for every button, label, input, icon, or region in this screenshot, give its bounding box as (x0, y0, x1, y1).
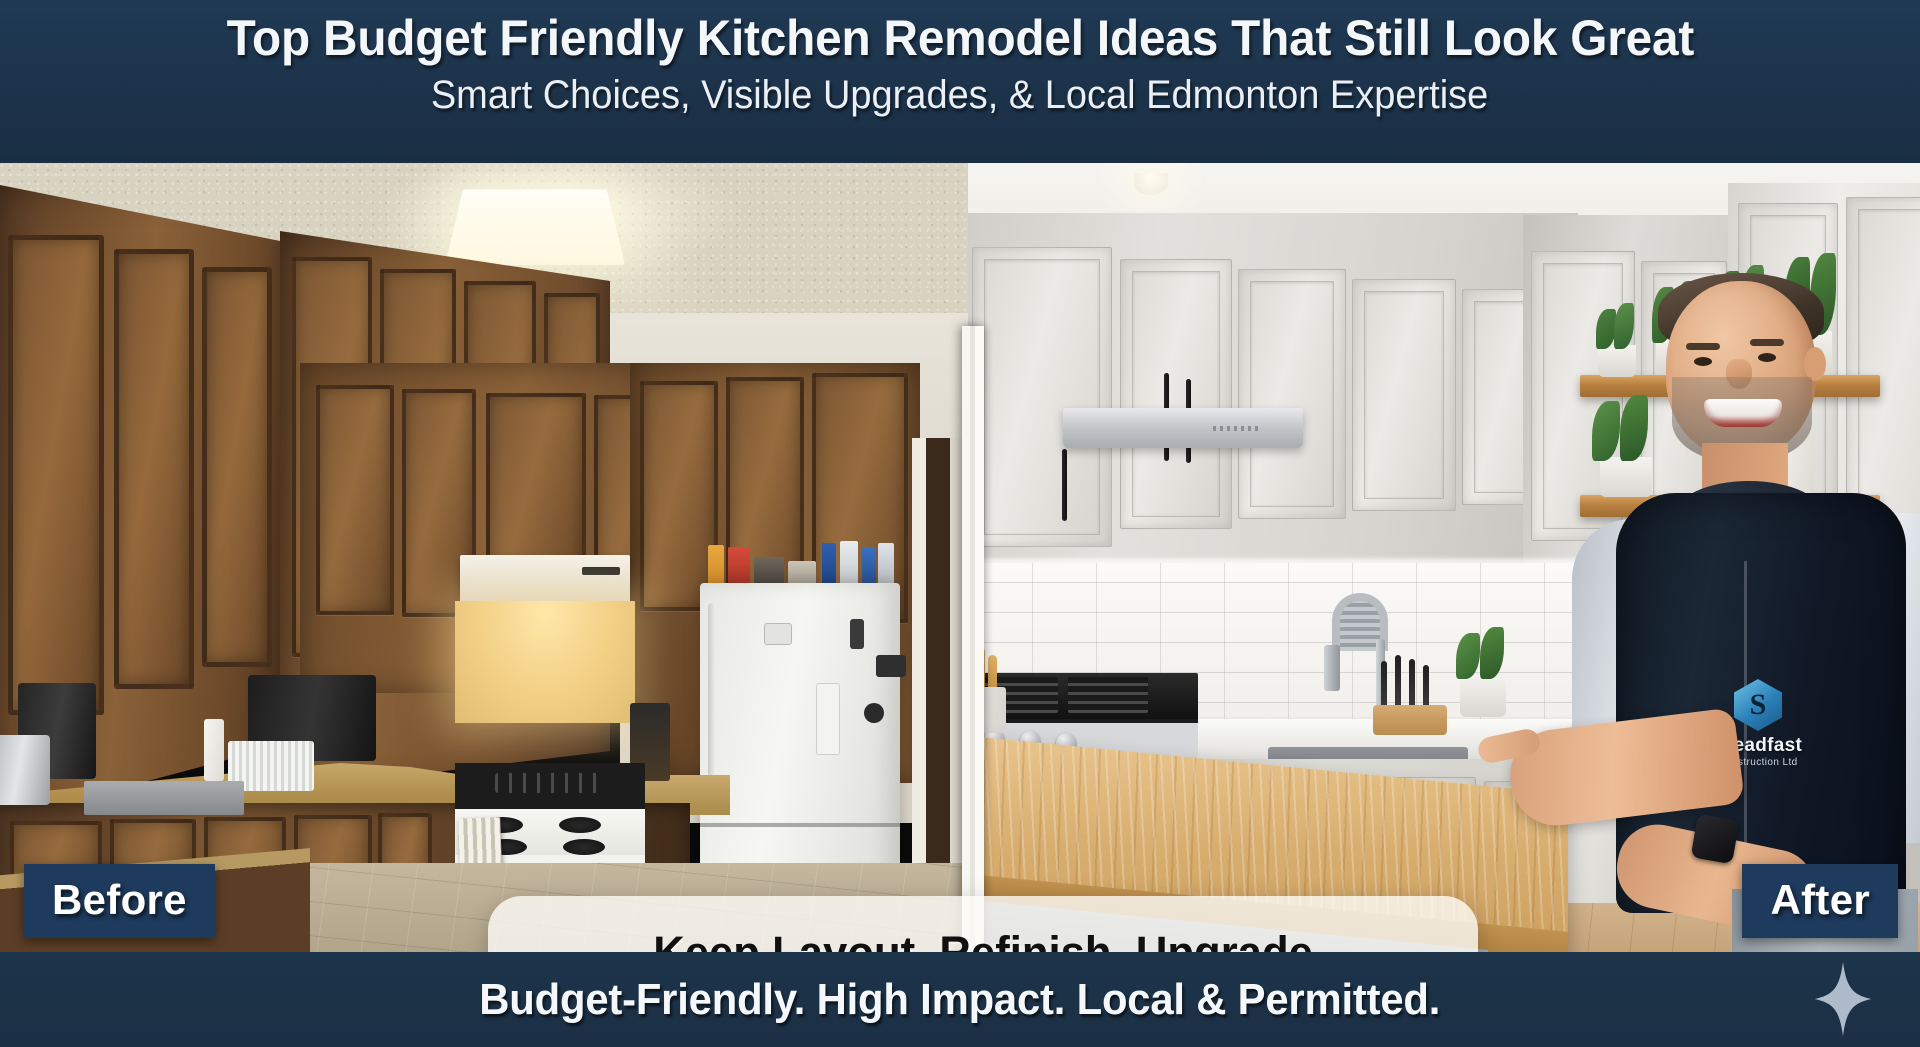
person-eye-left (1694, 357, 1712, 366)
before-kitchen-scene (0, 163, 968, 952)
footer-banner: Budget-Friendly. High Impact. Local & Pe… (0, 952, 1920, 1047)
promo-poster: Top Budget Friendly Kitchen Remodel Idea… (0, 0, 1920, 1047)
page-subtitle: Smart Choices, Visible Upgrades, & Local… (431, 73, 1488, 118)
before-paper-towel (204, 719, 224, 781)
before-toaster (0, 735, 50, 805)
hexagon-s-icon (1734, 679, 1782, 731)
after-burner-grate-right (1068, 677, 1148, 713)
person-smile (1704, 399, 1782, 427)
after-range-hood (1063, 408, 1303, 448)
badge-before: Before (24, 864, 215, 938)
after-kitchen-scene: Steadfast Construction Ltd (968, 163, 1920, 952)
person-ear (1804, 347, 1826, 381)
after-knife-block (1373, 655, 1447, 735)
before-sink (84, 781, 244, 815)
key-message-overlay: Keep Layout. Refinish. Upgrade Hardware … (488, 896, 1478, 952)
person-smartwatch (1690, 814, 1739, 865)
header-banner: Top Budget Friendly Kitchen Remodel Idea… (0, 0, 1920, 163)
before-ceiling-light (445, 190, 625, 265)
badge-after: After (1742, 864, 1898, 938)
page-title: Top Budget Friendly Kitchen Remodel Idea… (226, 11, 1694, 65)
after-photo: Steadfast Construction Ltd (968, 163, 1920, 952)
before-backsplash-glow (455, 601, 635, 723)
contractor-person: Steadfast Construction Ltd (1496, 281, 1920, 952)
before-range-hood (460, 555, 630, 603)
after-pot-light (1134, 173, 1168, 195)
overlay-line-1: Keep Layout. Refinish. Upgrade (653, 926, 1313, 952)
after-upper-cabinets-left (968, 213, 1578, 563)
four-point-star-icon (1814, 962, 1872, 1036)
before-fridge-clutter (706, 541, 896, 587)
footer-tagline: Budget-Friendly. High Impact. Local & Pe… (480, 975, 1441, 1025)
person-brow-left (1686, 343, 1720, 350)
before-after-stage: Steadfast Construction Ltd Before After … (0, 163, 1920, 952)
person-brow-right (1750, 339, 1784, 346)
before-photo (0, 163, 968, 952)
person-eye-right (1758, 353, 1776, 362)
before-after-divider (962, 326, 984, 952)
